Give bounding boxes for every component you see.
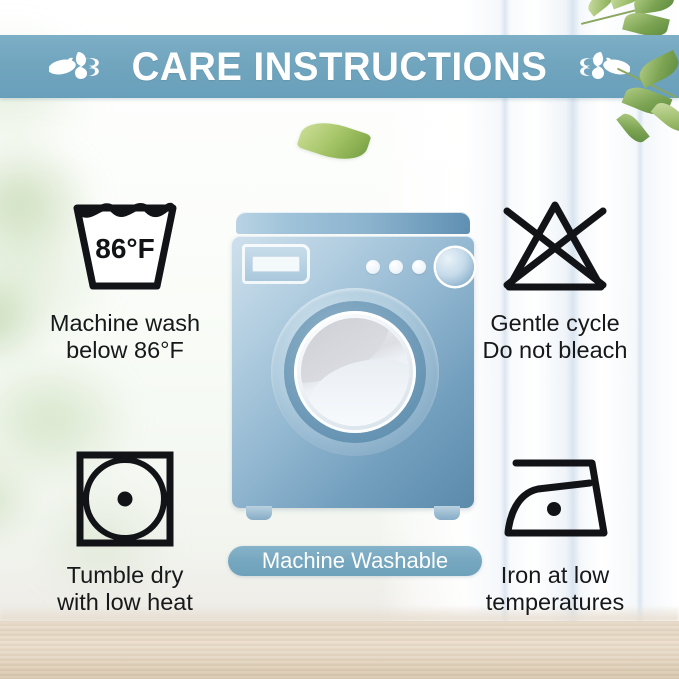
washing-machine-illustration [232,212,474,530]
background-table [0,621,679,679]
instruction-caption: Machine wash below 86°F [10,310,240,365]
wash-tub-icon: 86°F [10,188,240,306]
page-title: CARE INSTRUCTIONS [132,47,548,87]
header-banner: CARE INSTRUCTIONS [0,35,679,98]
fleur-de-lis-icon [49,45,107,89]
instruction-iron-low: Iron at low temperatures [440,440,670,617]
instruction-caption: Iron at low temperatures [440,562,670,617]
instruction-caption: Gentle cycle Do not bleach [440,310,670,365]
washer-button-1 [366,260,380,274]
instruction-do-not-bleach: Gentle cycle Do not bleach [440,188,670,365]
care-instructions-card: CARE INSTRUCTIONS [0,0,679,679]
washer-top-lid [236,212,470,234]
instruction-caption: Tumble dry with low heat [10,562,240,617]
iron-low-heat-icon [440,440,670,558]
detergent-drawer-slot [252,256,300,272]
instruction-machine-wash: 86°F Machine wash below 86°F [10,188,240,365]
machine-washable-label: Machine Washable [262,550,448,572]
fleur-de-lis-icon [572,45,630,89]
washer-button-2 [389,260,403,274]
do-not-bleach-triangle-icon [440,188,670,306]
tumble-dry-low-icon [10,440,240,558]
washer-button-3 [412,260,426,274]
instruction-tumble-dry: Tumble dry with low heat [10,440,240,617]
svg-text:86°F: 86°F [95,233,154,264]
washer-foot-left [246,506,272,520]
washer-door-glass [301,318,409,426]
